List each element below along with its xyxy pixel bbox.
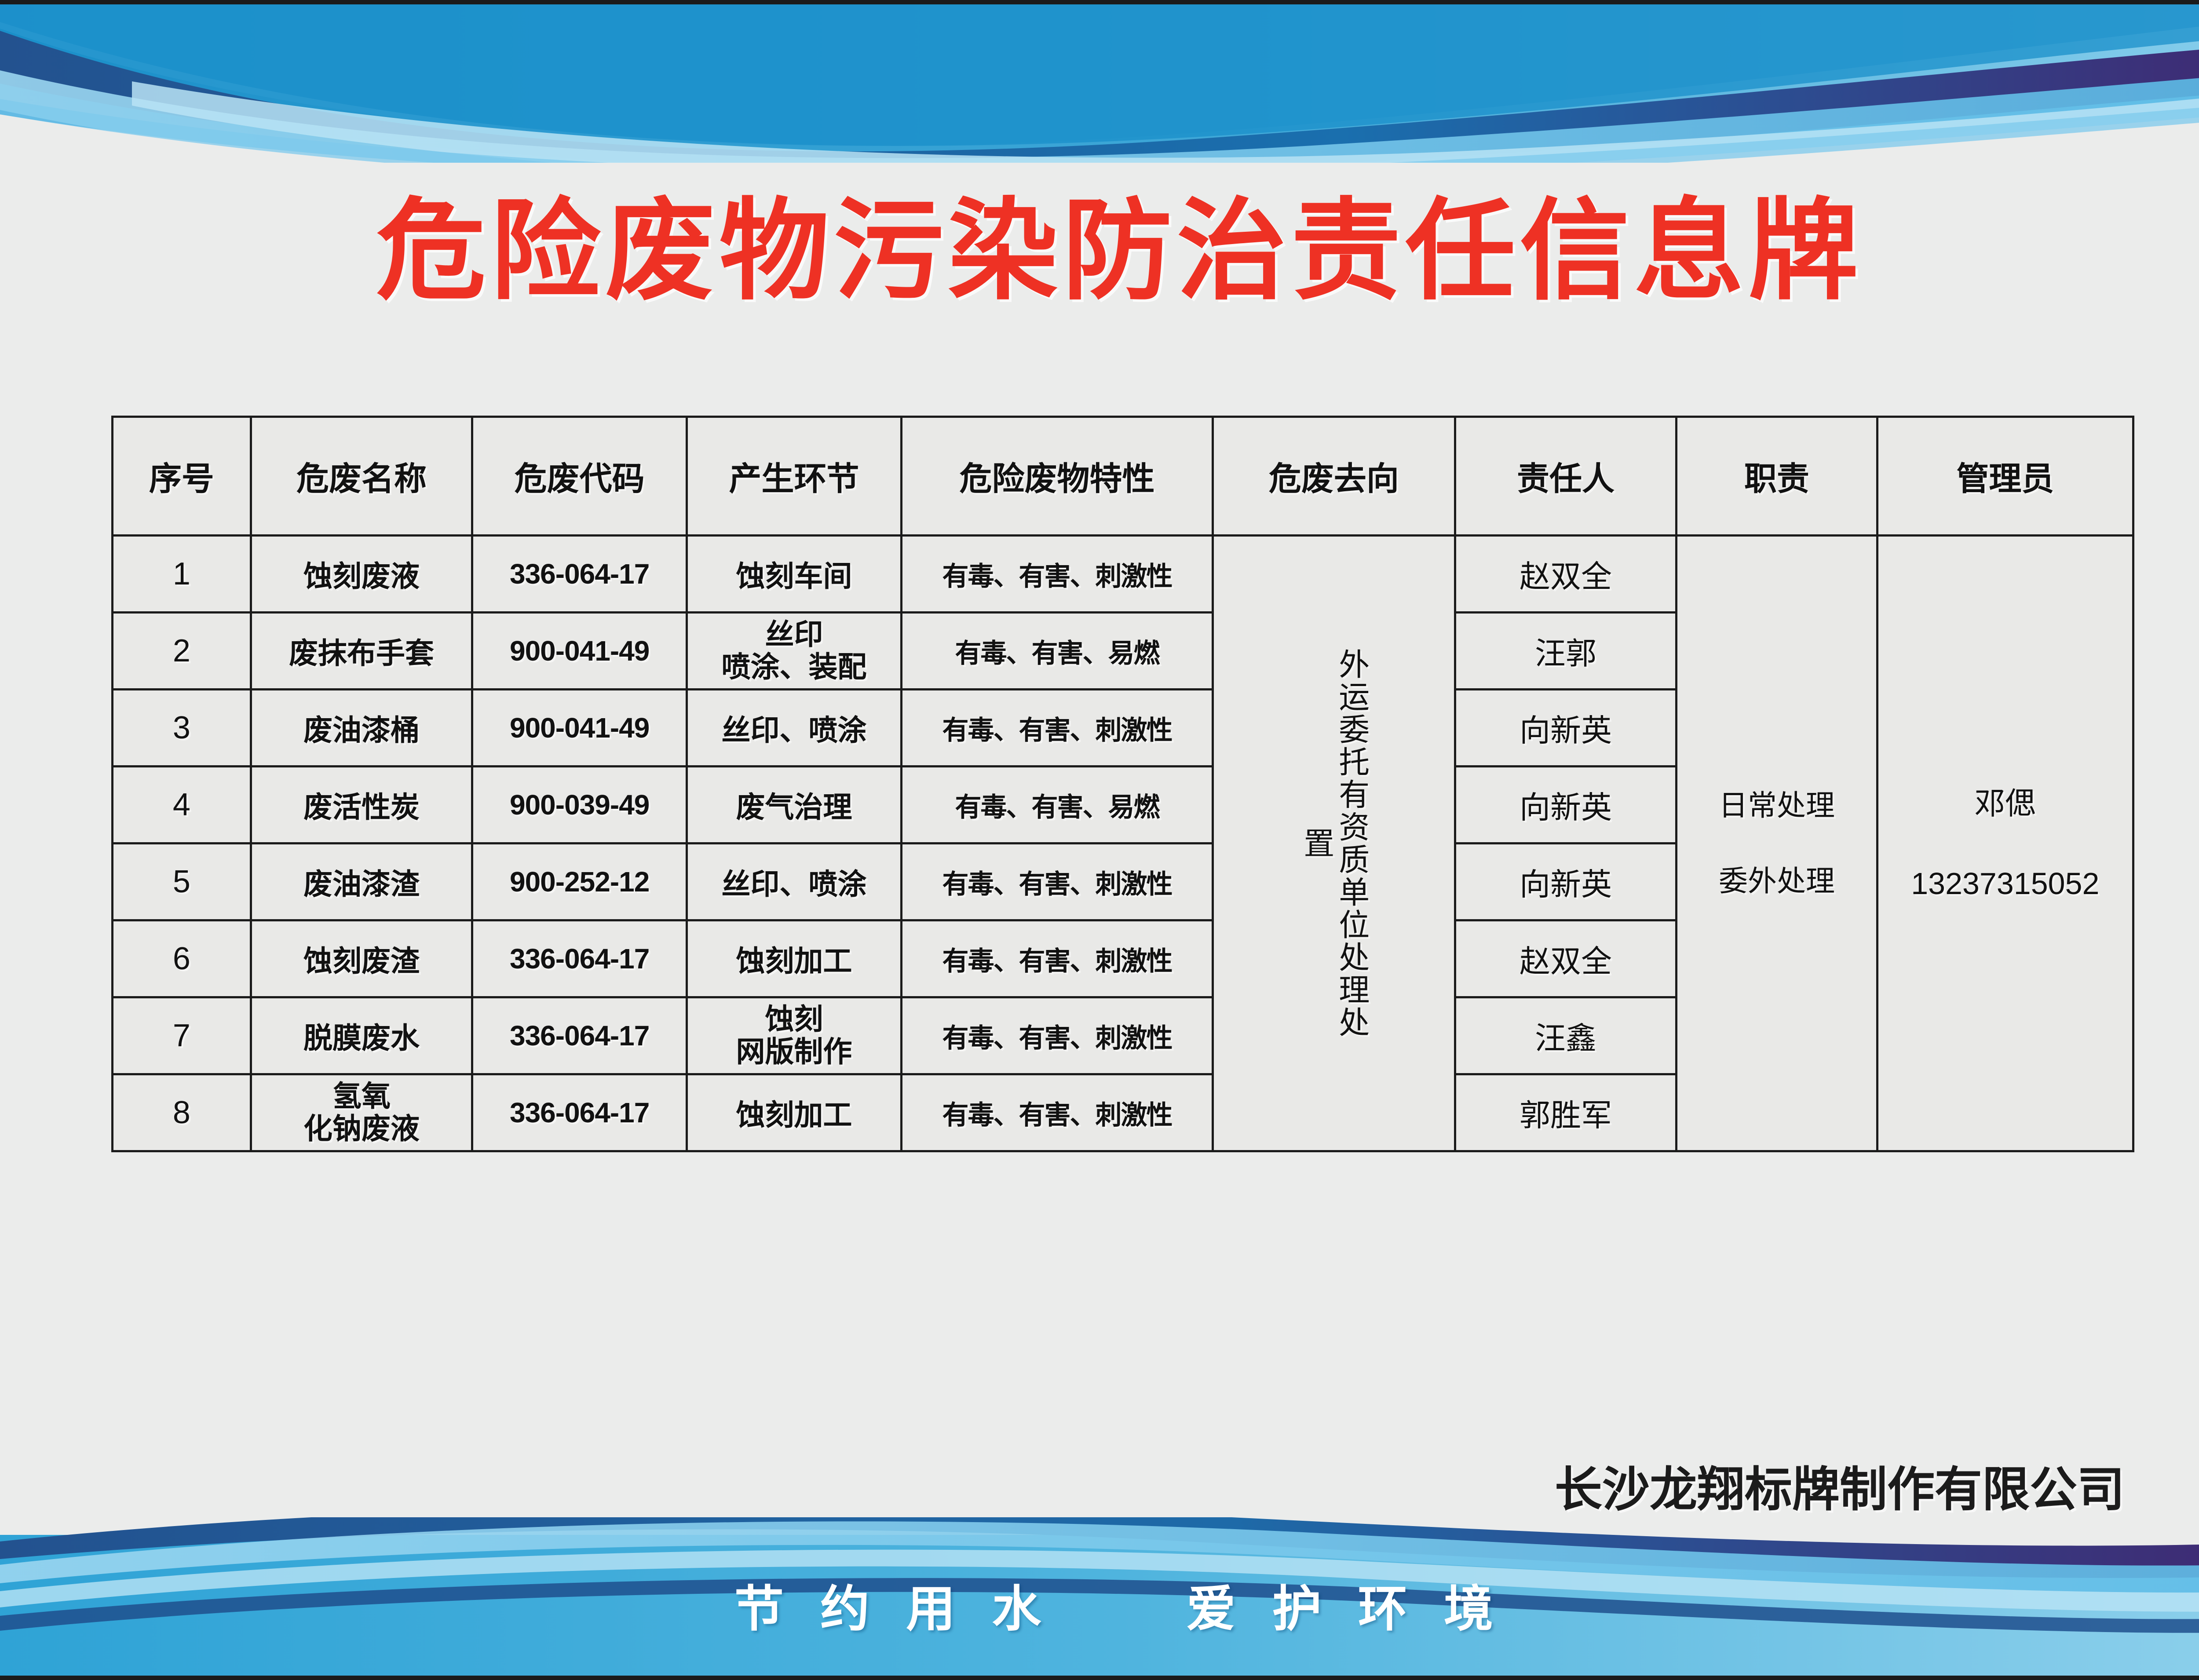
cell-name: 废油漆渣 — [251, 844, 472, 920]
cell-stage: 丝印、喷涂 — [687, 690, 902, 767]
cell-stage: 丝印 喷涂、装配 — [687, 613, 902, 690]
cell-duty: 日常处理 委外处理 — [1677, 536, 1877, 1151]
cell-destination: 外运委托有资质单位处理处置 — [1213, 536, 1455, 1151]
cell-stage: 蚀刻车间 — [687, 536, 902, 613]
cell-person: 赵双全 — [1455, 920, 1677, 997]
cell-feature: 有毒、有害、刺激性 — [901, 1074, 1213, 1151]
cell-person: 汪鑫 — [1455, 997, 1677, 1074]
cell-name: 废活性炭 — [251, 767, 472, 844]
wave-graphic-top — [0, 4, 2199, 163]
cell-person: 赵双全 — [1455, 536, 1677, 613]
hazardous-waste-table: 序号 危废名称 危废代码 产生环节 危险废物特性 危废去向 责任人 职责 管理员… — [111, 416, 2134, 1152]
information-board: 危险废物污染防治责任信息牌 序号 危废名称 危废代码 产生环节 危险废物特性 危… — [0, 0, 2199, 1680]
cell-person: 向新英 — [1455, 690, 1677, 767]
cell-code: 900-041-49 — [472, 613, 687, 690]
cell-index: 7 — [113, 997, 251, 1074]
cell-feature: 有毒、有害、刺激性 — [901, 536, 1213, 613]
company-name: 长沙龙翔标牌制作有限公司 — [1555, 1451, 2125, 1520]
slogan-right: 爱 护 环 境 — [1187, 1581, 1505, 1636]
column-header-stage: 产生环节 — [687, 417, 902, 536]
duty-line-2: 委外处理 — [1678, 844, 1875, 919]
page-title: 危险废物污染防治责任信息牌 — [0, 194, 2199, 309]
destination-text: 外运委托有资质单位处理处置 — [1299, 646, 1369, 1041]
cell-person: 向新英 — [1455, 767, 1677, 844]
cell-name: 蚀刻废液 — [251, 536, 472, 613]
column-header-index: 序号 — [113, 417, 251, 536]
stage-line-2: 喷涂、装配 — [689, 651, 899, 683]
column-header-responsible: 责任人 — [1455, 417, 1677, 536]
cell-code: 900-041-49 — [472, 690, 687, 767]
column-header-characteristics: 危险废物特性 — [901, 417, 1213, 536]
cell-person: 汪郭 — [1455, 613, 1677, 690]
cell-feature: 有毒、有害、易燃 — [901, 613, 1213, 690]
cell-name: 氢氧 化钠废液 — [251, 1074, 472, 1151]
stage-line-1: 丝印 — [689, 618, 899, 651]
cell-stage: 蚀刻加工 — [687, 1074, 902, 1151]
name-line-1: 氢氧 — [253, 1080, 471, 1113]
footer-slogan: 节 约 用 水 爱 护 环 境 — [0, 1569, 2199, 1640]
column-header-waste-name: 危废名称 — [251, 417, 472, 536]
cell-stage: 蚀刻 网版制作 — [687, 997, 902, 1074]
slogan-left: 节 约 用 水 — [734, 1581, 1052, 1636]
cell-code: 336-064-17 — [472, 920, 687, 997]
cell-feature: 有毒、有害、刺激性 — [901, 920, 1213, 997]
cell-name: 废油漆桶 — [251, 690, 472, 767]
duty-line-1: 日常处理 — [1678, 768, 1875, 844]
cell-index: 3 — [113, 690, 251, 767]
column-header-destination: 危废去向 — [1213, 417, 1455, 536]
cell-feature: 有毒、有害、刺激性 — [901, 690, 1213, 767]
cell-stage: 丝印、喷涂 — [687, 844, 902, 920]
name-line-2: 化钠废液 — [253, 1113, 471, 1145]
cell-name: 脱膜废水 — [251, 997, 472, 1074]
cell-index: 2 — [113, 613, 251, 690]
table-row: 1 蚀刻废液 336-064-17 蚀刻车间 有毒、有害、刺激性 外运委托有资质… — [113, 536, 2133, 613]
stage-line-2: 网版制作 — [689, 1036, 899, 1068]
stage-line-1: 蚀刻 — [689, 1003, 899, 1036]
cell-feature: 有毒、有害、易燃 — [901, 767, 1213, 844]
cell-index: 4 — [113, 767, 251, 844]
cell-stage: 废气治理 — [687, 767, 902, 844]
cell-index: 6 — [113, 920, 251, 997]
cell-index: 1 — [113, 536, 251, 613]
cell-index: 8 — [113, 1074, 251, 1151]
cell-person: 向新英 — [1455, 844, 1677, 920]
cell-feature: 有毒、有害、刺激性 — [901, 844, 1213, 920]
cell-person: 郭胜军 — [1455, 1074, 1677, 1151]
cell-index: 5 — [113, 844, 251, 920]
column-header-waste-code: 危废代码 — [472, 417, 687, 536]
column-header-duty: 职责 — [1677, 417, 1877, 536]
cell-code: 336-064-17 — [472, 997, 687, 1074]
destination-vertical-wrap: 外运委托有资质单位处理处置 — [1215, 646, 1453, 1041]
cell-feature: 有毒、有害、刺激性 — [901, 997, 1213, 1074]
decorative-wave-banner-top — [0, 4, 2199, 163]
cell-name: 蚀刻废渣 — [251, 920, 472, 997]
cell-stage: 蚀刻加工 — [687, 920, 902, 997]
cell-code: 900-039-49 — [472, 767, 687, 844]
manager-phone: 13237315052 — [1879, 844, 2131, 924]
cell-code: 336-064-17 — [472, 1074, 687, 1151]
cell-code: 900-252-12 — [472, 844, 687, 920]
hazardous-waste-table-wrap: 序号 危废名称 危废代码 产生环节 危险废物特性 危废去向 责任人 职责 管理员… — [111, 416, 2134, 1152]
table-header-row: 序号 危废名称 危废代码 产生环节 危险废物特性 危废去向 责任人 职责 管理员 — [113, 417, 2133, 536]
cell-manager: 邓偲 13237315052 — [1877, 536, 2133, 1151]
column-header-manager: 管理员 — [1877, 417, 2133, 536]
manager-name: 邓偲 — [1879, 763, 2131, 844]
cell-name: 废抹布手套 — [251, 613, 472, 690]
cell-code: 336-064-17 — [472, 536, 687, 613]
